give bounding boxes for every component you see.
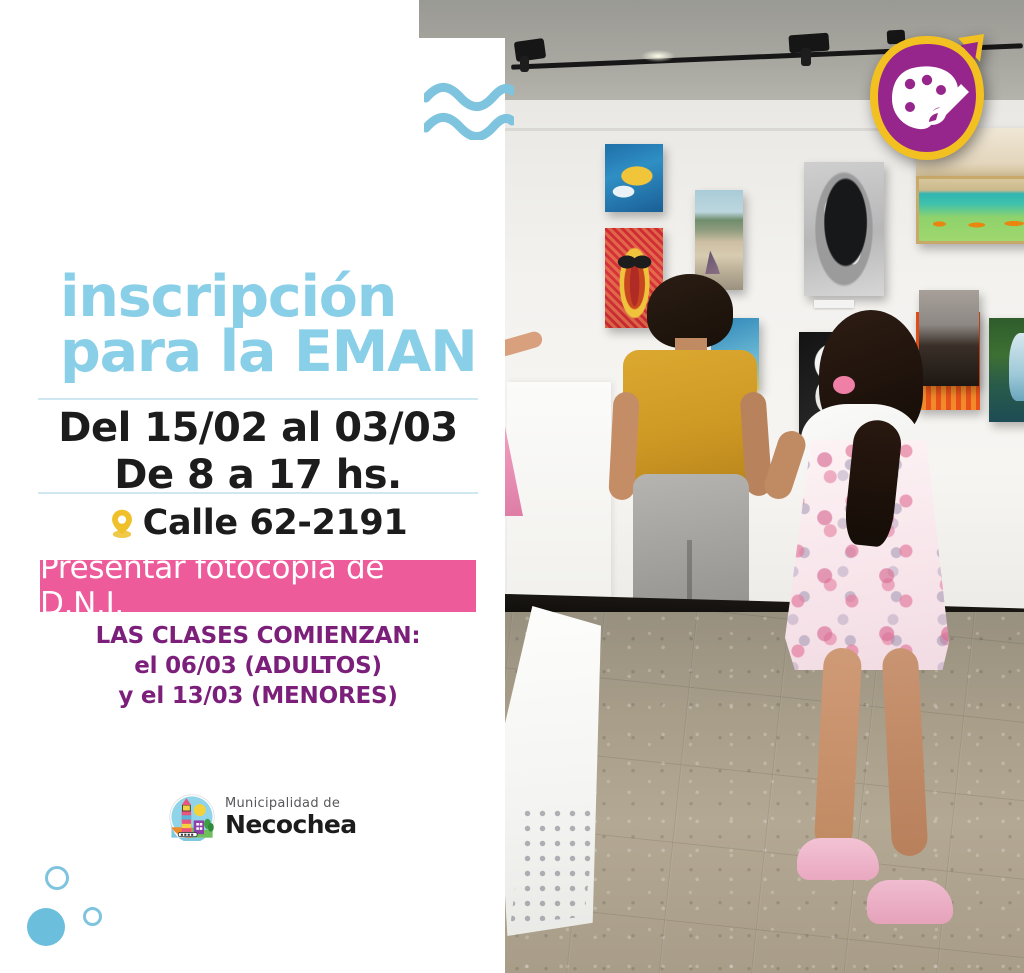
painting-blue-yellow <box>605 144 663 212</box>
divider-top <box>38 398 478 400</box>
track-light-head <box>514 38 546 62</box>
classes-minors: y el 13/03 (MENORES) <box>38 682 478 712</box>
classes-start-block: LAS CLASES COMIENZAN: el 06/03 (ADULTOS)… <box>38 622 478 712</box>
circle-decoration-filled <box>27 908 65 946</box>
painting-waterfall <box>989 318 1024 422</box>
ceiling-light-glow <box>641 50 675 62</box>
child-floral-dress-clog <box>797 838 879 880</box>
gallery-plinth <box>507 382 611 610</box>
dni-notice-banner: Presentar fotocopia de D.N.I. <box>40 560 476 612</box>
child-floral-dress-clog <box>867 880 953 924</box>
painting-gray-black-abstract <box>804 162 884 296</box>
dates-range: Del 15/02 al 03/03 <box>38 405 478 452</box>
municipality-logo-text: Municipalidad de Necochea <box>225 797 357 837</box>
track-light-head-stem <box>801 48 811 66</box>
headline-line-2: para la EMAN <box>60 325 490 380</box>
panel-top-margin <box>0 0 419 40</box>
child-yellow-shirt-top <box>623 350 757 486</box>
poster-canvas: inscripción para la EMAN Del 15/02 al 03… <box>0 0 1024 973</box>
page-title: inscripción para la EMAN <box>60 270 490 381</box>
painting-green-seascape <box>916 176 1024 244</box>
palette-badge-icon <box>866 32 988 164</box>
dates-block: Del 15/02 al 03/03 De 8 a 17 hs. <box>38 405 478 499</box>
address-text: Calle 62-2191 <box>143 503 408 543</box>
painting-dark-seascape <box>919 290 979 386</box>
municipality-logo: Municipalidad de Necochea <box>168 793 357 841</box>
circle-decoration-ring <box>45 866 69 890</box>
child-yellow-shirt-hair <box>647 274 733 348</box>
classes-adults: el 06/03 (ADULTOS) <box>38 652 478 682</box>
child-floral-dress-hairclip <box>833 376 855 394</box>
divider-bottom <box>38 492 478 494</box>
location-pin-icon <box>109 508 135 539</box>
headline-line-1: inscripción <box>60 270 490 325</box>
classes-heading: LAS CLASES COMIENZAN: <box>38 622 478 652</box>
municipality-logo-line-1: Municipalidad de <box>225 797 357 810</box>
address-row: Calle 62-2191 <box>38 503 478 543</box>
lighthouse-emblem-icon <box>168 793 216 841</box>
panel-bottom-margin <box>0 959 419 973</box>
painting-wall-label <box>814 300 854 308</box>
waves-decoration-icon <box>424 82 514 140</box>
circle-decoration-ring-small <box>83 907 102 926</box>
municipality-logo-line-2: Necochea <box>225 812 357 837</box>
dni-notice-text: Presentar fotocopia de D.N.I. <box>40 550 476 622</box>
track-light-head-stem <box>520 56 529 72</box>
